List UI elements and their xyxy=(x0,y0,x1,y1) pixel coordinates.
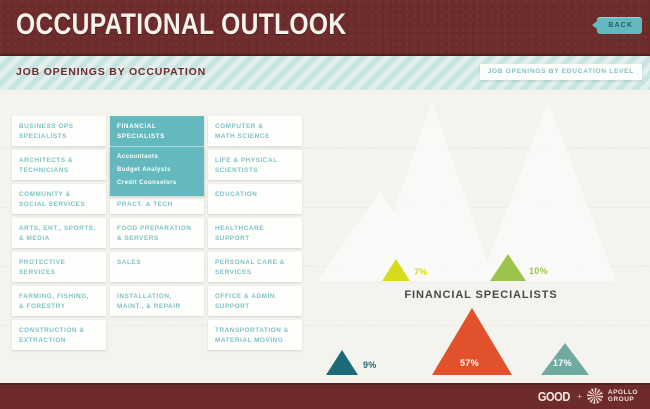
data-label-some-college: 10% xyxy=(529,266,548,276)
occupational-outlook-app: OCCUPATIONAL OUTLOOK BACK JOB OPENINGS B… xyxy=(0,0,650,409)
occupation-tile-business-ops-specialists[interactable]: BUSINESS OPSSPECIALISTS xyxy=(12,116,106,146)
occupation-tile-sales[interactable]: SALES xyxy=(110,252,204,282)
occupation-tile-transportation-material-moving[interactable]: TRANSPORTATION &MATERIAL MOVING xyxy=(208,320,302,350)
data-triangle-associates[interactable] xyxy=(326,347,358,375)
occupation-tile-education[interactable]: EDUCATION xyxy=(208,184,302,214)
occupation-tile-personal-care-services[interactable]: PERSONAL CARE &SERVICES xyxy=(208,252,302,282)
apollo-line-1: APOLLO xyxy=(608,389,638,396)
data-triangle-hs-or-less[interactable] xyxy=(382,256,410,281)
financial-specialists-dropdown: Accountants Budget Analysts Credit Couns… xyxy=(110,146,204,196)
page-title: OCCUPATIONAL OUTLOOK xyxy=(16,8,346,42)
occupation-column-1: BUSINESS OPSSPECIALISTS ARCHITECTS &TECH… xyxy=(12,116,106,350)
occupation-tile-community-social-services[interactable]: COMMUNITY &SOCIAL SERVICES xyxy=(12,184,106,214)
occupation-tile-healthcare-support[interactable]: HEALTHCARESUPPORT xyxy=(208,218,302,248)
ghost-mountain-2 xyxy=(370,98,494,281)
apollo-group-logo-text: APOLLO GROUP xyxy=(608,389,638,404)
occupation-tile-architects-technicians[interactable]: ARCHITECTS &TECHNICIANS xyxy=(12,150,106,180)
data-label-hs-or-less: 7% xyxy=(414,267,428,277)
data-label-bachelors: 57% xyxy=(460,358,479,368)
content-area: BUSINESS OPSSPECIALISTS ARCHITECTS &TECH… xyxy=(0,90,650,383)
occupation-tile-construction-extraction[interactable]: CONSTRUCTION &EXTRACTION xyxy=(12,320,106,350)
occupation-tile-life-physical-scientists[interactable]: LIFE & PHYSICALSCIENTISTS xyxy=(208,150,302,180)
data-label-associates: 9% xyxy=(363,360,377,370)
back-button[interactable]: BACK xyxy=(597,17,642,34)
occupation-subitem-budget-analysts[interactable]: Budget Analysts xyxy=(117,164,197,177)
app-header: OCCUPATIONAL OUTLOOK BACK xyxy=(0,0,650,56)
occupation-tile-installation-maint-repair[interactable]: INSTALLATION,MAINT., & REPAIR xyxy=(110,286,204,316)
footer-logo-group: GOOD + APOLLO GROUP xyxy=(535,388,639,404)
good-logo: GOOD xyxy=(537,389,569,404)
plus-symbol: + xyxy=(577,392,582,401)
occupation-subitem-credit-counselors[interactable]: Credit Counselors xyxy=(117,177,197,190)
occupation-tile-protective-services[interactable]: PROTECTIVESERVICES xyxy=(12,252,106,282)
occupation-grid: BUSINESS OPSSPECIALISTS ARCHITECTS &TECH… xyxy=(12,116,304,350)
occupation-tile-arts-ent-sports-media[interactable]: ARTS, ENT., SPORTS,& MEDIA xyxy=(12,218,106,248)
data-label-masters-or-higher: 17% xyxy=(553,358,572,368)
occupation-tile-food-preparation-servers[interactable]: FOOD PREPARATION& SERVERS xyxy=(110,218,204,248)
occupation-subitem-accountants[interactable]: Accountants xyxy=(117,151,197,164)
triangle-chart: 7% 10% 9% 57% 17% FINANCIAL SPECIALISTS xyxy=(312,90,650,383)
subheader-bar: JOB OPENINGS BY OCCUPATION JOB OPENINGS … xyxy=(0,56,650,90)
occupation-tile-financial-specialists[interactable]: FINANCIALSPECIALISTS xyxy=(110,116,204,146)
app-footer: GOOD + APOLLO GROUP xyxy=(0,383,650,409)
occupation-column-2: FINANCIALSPECIALISTS OCCUPATIONS HEALTHC… xyxy=(110,116,204,350)
tab-job-openings-by-education-level[interactable]: JOB OPENINGS BY EDUCATION LEVEL xyxy=(480,64,642,80)
apollo-group-icon xyxy=(587,388,603,404)
occupation-tile-farming-fishing-forestry[interactable]: FARMING, FISHING,& FORESTRY xyxy=(12,286,106,316)
data-triangle-some-college[interactable] xyxy=(490,251,526,281)
chart-title: FINANCIAL SPECIALISTS xyxy=(312,289,650,301)
occupation-tile-office-admin-support[interactable]: OFFICE & ADMIN.SUPPORT xyxy=(208,286,302,316)
section-title: JOB OPENINGS BY OCCUPATION xyxy=(16,66,206,78)
occupation-tile-computer-math-science[interactable]: COMPUTER &MATH SCIENCE xyxy=(208,116,302,146)
apollo-line-2: GROUP xyxy=(608,396,634,403)
occupation-column-3: COMPUTER &MATH SCIENCE LIFE & PHYSICALSC… xyxy=(208,116,302,350)
